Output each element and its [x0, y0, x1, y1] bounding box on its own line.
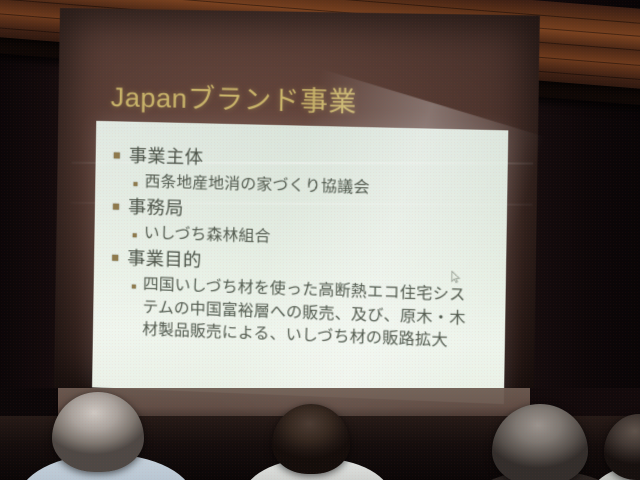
bullet-text: 西条地産地消の家づくり協議会: [144, 171, 369, 200]
bullet-item: 四国いしづち材を使った高断熱エコ住宅システムの中国富裕層への販売、及び、原木・木…: [109, 273, 495, 356]
bullet-text: 四国いしづち材を使った高断熱エコ住宅システムの中国富裕層への販売、及び、原木・木…: [142, 274, 473, 355]
bullet-marker-icon: [113, 204, 119, 210]
bullet-marker-icon: [112, 255, 118, 261]
bullet-marker-icon: [114, 152, 120, 158]
bullet-text: 事務局: [128, 195, 184, 222]
slide-content-panel: 事業主体 西条地産地消の家づくり協議会 事務局 いしづち森林組合 事業目的: [92, 121, 508, 404]
projection-screen: Japanブランド事業 事業主体 西条地産地消の家づくり協議会 事務局: [54, 8, 540, 407]
bullet-marker-icon: [132, 285, 136, 289]
bullet-text: 事業目的: [127, 246, 202, 274]
bullet-text: 事業主体: [129, 144, 204, 172]
mouse-cursor-icon: [451, 271, 461, 284]
bullet-marker-icon: [133, 233, 137, 237]
slide-title: Japanブランド事業: [110, 75, 357, 120]
bullet-text: いしづち森林組合: [144, 222, 271, 249]
bullet-marker-icon: [133, 182, 137, 186]
presentation-photo-scene: Japanブランド事業 事業主体 西条地産地消の家づくり協議会 事務局: [0, 0, 640, 480]
slide-bullet-list: 事業主体 西条地産地消の家づくり協議会 事務局 いしづち森林組合 事業目的: [109, 143, 498, 357]
